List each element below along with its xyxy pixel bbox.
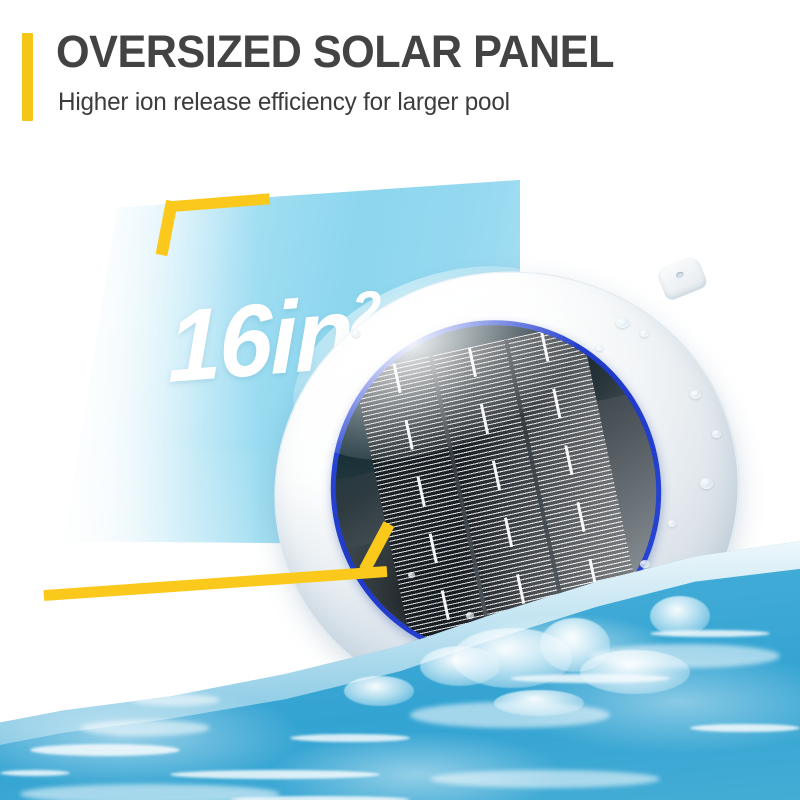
water-droplet — [616, 318, 629, 328]
water-foam-streak — [290, 734, 410, 742]
water-droplet — [690, 390, 701, 399]
water-foam-patch — [430, 770, 660, 788]
water-droplet — [712, 430, 721, 438]
page-subtitle: Higher ion release efficiency for larger… — [58, 88, 510, 117]
water-droplet — [640, 330, 649, 337]
water-foam-streak — [0, 770, 70, 776]
product-marketing-image: OVERSIZED SOLAR PANEL Higher ion release… — [0, 0, 800, 800]
bracket-bottom-left-icon — [333, 522, 443, 594]
water-foam-patch — [80, 720, 210, 736]
water-foam-streak — [690, 724, 800, 732]
bracket-bl-vertical-leg — [359, 521, 394, 573]
water-droplet — [596, 345, 603, 351]
water-splash — [420, 646, 500, 686]
water-droplet — [352, 330, 360, 337]
hanging-tab — [655, 254, 709, 302]
yellow-accent-bar — [22, 33, 33, 121]
water-foam-streak — [230, 796, 410, 800]
water-foam-streak — [170, 770, 380, 779]
water-foam-patch — [130, 694, 220, 706]
water-splash — [650, 596, 710, 636]
water-droplet — [700, 478, 713, 489]
page-title: OVERSIZED SOLAR PANEL — [56, 28, 614, 75]
water-droplet — [466, 612, 474, 619]
water-splash — [580, 650, 690, 694]
water-splash — [494, 690, 584, 716]
water-droplet — [640, 560, 650, 568]
water-droplet — [668, 520, 676, 527]
water-foam-streak — [30, 744, 180, 756]
water-splash — [344, 676, 414, 706]
bracket-tl-horizontal-leg — [172, 193, 271, 212]
bracket-top-left-icon — [160, 193, 270, 263]
header-block: OVERSIZED SOLAR PANEL Higher ion release… — [0, 0, 800, 150]
